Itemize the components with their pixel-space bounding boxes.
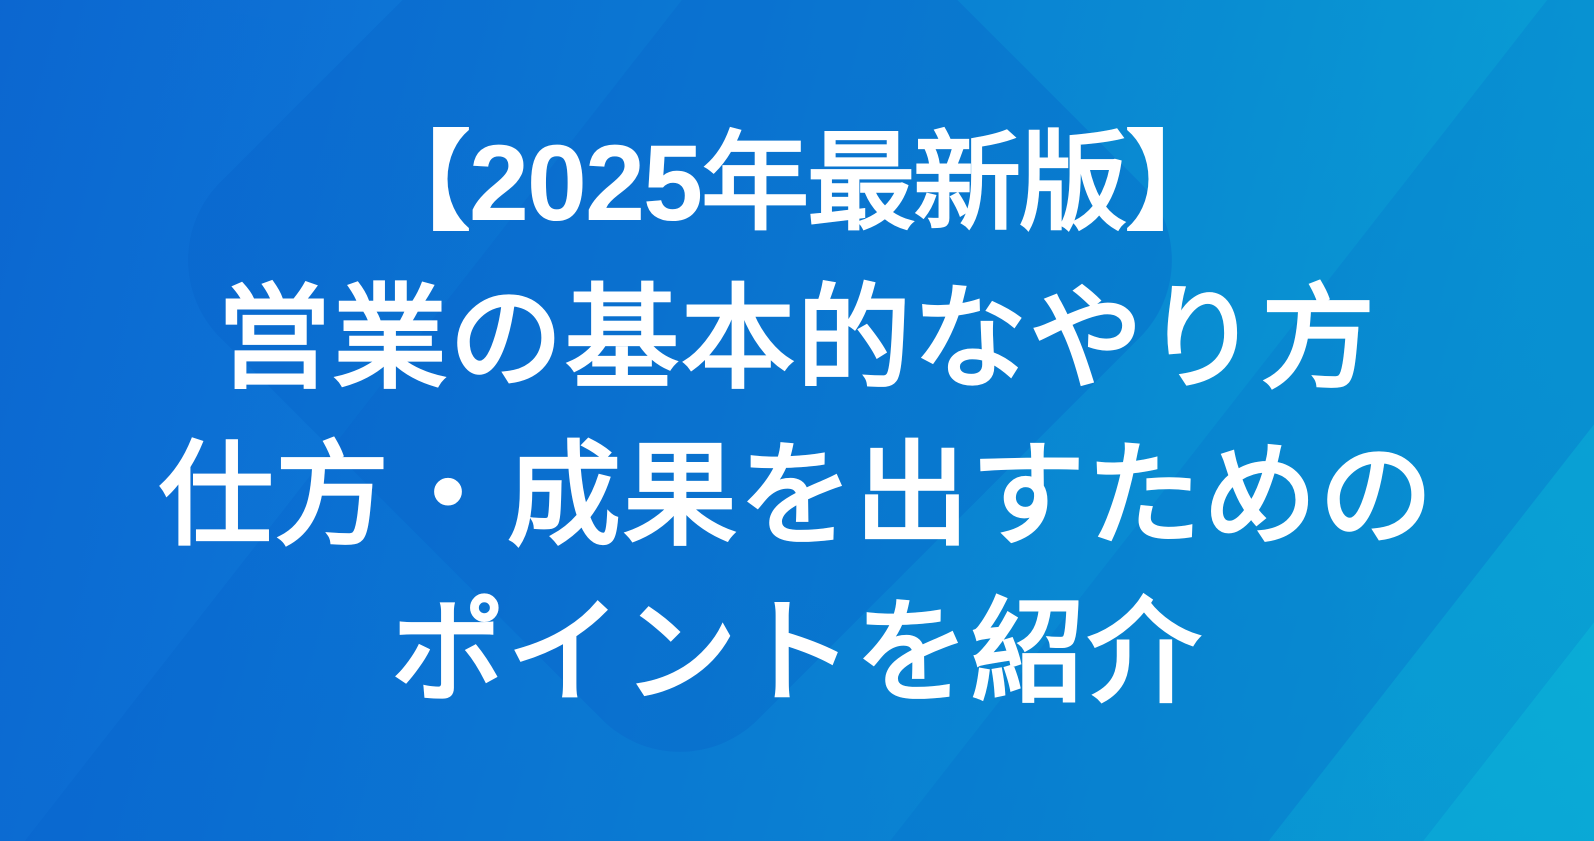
title-line-3: 仕方・成果を出すための [0,418,1594,575]
title-line-1: 【2025年最新版】 [0,104,1594,261]
title-line-4: ポイントを紹介 [0,575,1594,732]
title-banner: 【2025年最新版】 営業の基本的なやり方 仕方・成果を出すための ポイントを紹… [0,0,1594,841]
page-title: 【2025年最新版】 営業の基本的なやり方 仕方・成果を出すための ポイントを紹… [0,104,1594,732]
title-line-2: 営業の基本的なやり方 [0,261,1594,418]
